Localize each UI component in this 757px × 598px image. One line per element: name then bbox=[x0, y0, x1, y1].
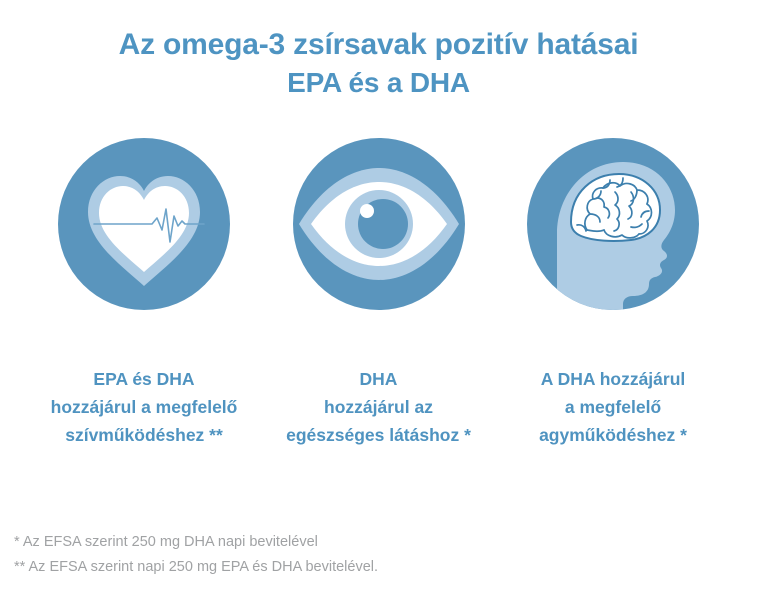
benefit-card-brain: A DHA hozzájárul a megfelelő agyműködésh… bbox=[497, 138, 729, 449]
caption-line: agyműködéshez * bbox=[488, 421, 738, 449]
caption-line: szívműködéshez ** bbox=[19, 421, 269, 449]
title-line-2: EPA és a DHA bbox=[0, 64, 757, 102]
brain-head-icon bbox=[527, 138, 699, 310]
caption-line: EPA és DHA bbox=[19, 365, 269, 393]
heart-ecg-icon bbox=[58, 138, 230, 310]
eye-icon bbox=[293, 138, 465, 310]
footnotes: * Az EFSA szerint 250 mg DHA napi bevite… bbox=[14, 530, 378, 580]
benefit-caption-eye: DHA hozzájárul az egészséges látáshoz * bbox=[254, 365, 504, 449]
caption-line: hozzájárul a megfelelő bbox=[19, 393, 269, 421]
caption-line: A DHA hozzájárul bbox=[488, 365, 738, 393]
caption-line: a megfelelő bbox=[488, 393, 738, 421]
caption-line: DHA bbox=[254, 365, 504, 393]
benefit-card-heart: EPA és DHA hozzájárul a megfelelő szívmű… bbox=[28, 138, 260, 449]
benefit-columns: EPA és DHA hozzájárul a megfelelő szívmű… bbox=[0, 138, 757, 449]
page-title: Az omega-3 zsírsavak pozitív hatásai EPA… bbox=[0, 0, 757, 102]
footnote-single-asterisk: * Az EFSA szerint 250 mg DHA napi bevite… bbox=[14, 530, 378, 555]
benefit-caption-heart: EPA és DHA hozzájárul a megfelelő szívmű… bbox=[19, 365, 269, 449]
title-line-1: Az omega-3 zsírsavak pozitív hatásai bbox=[0, 26, 757, 64]
infographic-root: Az omega-3 zsírsavak pozitív hatásai EPA… bbox=[0, 0, 757, 598]
footnote-double-asterisk: ** Az EFSA szerint napi 250 mg EPA és DH… bbox=[14, 555, 378, 580]
caption-line: egészséges látáshoz * bbox=[254, 421, 504, 449]
benefit-card-eye: DHA hozzájárul az egészséges látáshoz * bbox=[263, 138, 495, 449]
benefit-caption-brain: A DHA hozzájárul a megfelelő agyműködésh… bbox=[488, 365, 738, 449]
caption-line: hozzájárul az bbox=[254, 393, 504, 421]
